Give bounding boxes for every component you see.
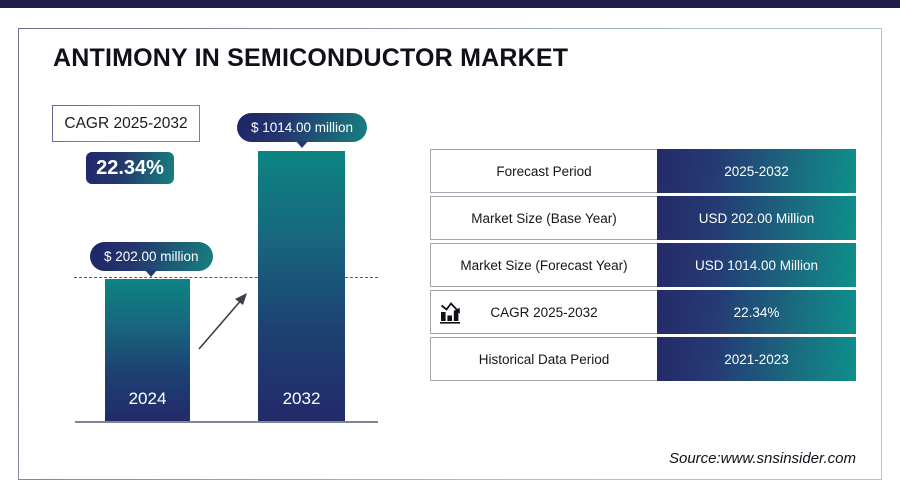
table-cell-value: USD 202.00 Million — [657, 196, 856, 240]
table-label-text: Market Size (Forecast Year) — [460, 258, 627, 273]
table-row: Market Size (Forecast Year) USD 1014.00 … — [430, 243, 856, 287]
table-cell-value: 2025-2032 — [657, 149, 856, 193]
table-label-text: CAGR 2025-2032 — [490, 305, 597, 320]
cagr-period-box-inner: CAGR 2025-2032 — [53, 106, 199, 141]
bar-year-label-2024: 2024 — [105, 389, 190, 409]
top-accent-bar — [0, 0, 900, 8]
bar-chart-arrow-icon — [439, 299, 465, 325]
growth-arrow-icon — [193, 285, 255, 355]
table-value-text: USD 202.00 Million — [699, 211, 815, 226]
table-row: CAGR 2025-2032 22.34% — [430, 290, 856, 334]
chart-baseline-axis — [75, 421, 378, 423]
value-label-2032: $ 1014.00 million — [237, 113, 367, 142]
page-title: ANTIMONY IN SEMICONDUCTOR MARKET — [53, 44, 568, 73]
bar-2032: 2032 — [258, 151, 345, 421]
bar-year-label-2032: 2032 — [258, 389, 345, 409]
table-value-text: 2021-2023 — [724, 352, 789, 367]
table-cell-label: CAGR 2025-2032 — [430, 290, 657, 334]
table-value-text: 22.34% — [734, 305, 780, 320]
table-row: Market Size (Base Year) USD 202.00 Milli… — [430, 196, 856, 240]
value-label-2024: $ 202.00 million — [90, 242, 213, 271]
table-cell-label: Market Size (Base Year) — [430, 196, 657, 240]
table-row: Historical Data Period 2021-2023 — [430, 337, 856, 381]
bar-2024: 2024 — [105, 279, 190, 421]
table-label-text: Forecast Period — [496, 164, 591, 179]
infographic-page: ANTIMONY IN SEMICONDUCTOR MARKET CAGR 20… — [0, 0, 900, 500]
table-value-text: 2025-2032 — [724, 164, 789, 179]
cagr-period-label: CAGR 2025-2032 — [64, 115, 187, 133]
table-cell-value: 2021-2023 — [657, 337, 856, 381]
source-attribution: Source:www.snsinsider.com — [669, 450, 856, 467]
table-cell-label: Historical Data Period — [430, 337, 657, 381]
market-summary-table: Forecast Period 2025-2032 Market Size (B… — [430, 149, 856, 384]
cagr-value-badge: 22.34% — [86, 152, 174, 184]
table-cell-value: 22.34% — [657, 290, 856, 334]
table-value-text: USD 1014.00 Million — [695, 258, 818, 273]
table-label-text: Historical Data Period — [479, 352, 610, 367]
cagr-period-box: CAGR 2025-2032 — [52, 105, 200, 142]
table-row: Forecast Period 2025-2032 — [430, 149, 856, 193]
table-label-text: Market Size (Base Year) — [471, 211, 617, 226]
table-cell-value: USD 1014.00 Million — [657, 243, 856, 287]
table-cell-label: Market Size (Forecast Year) — [430, 243, 657, 287]
table-cell-label: Forecast Period — [430, 149, 657, 193]
